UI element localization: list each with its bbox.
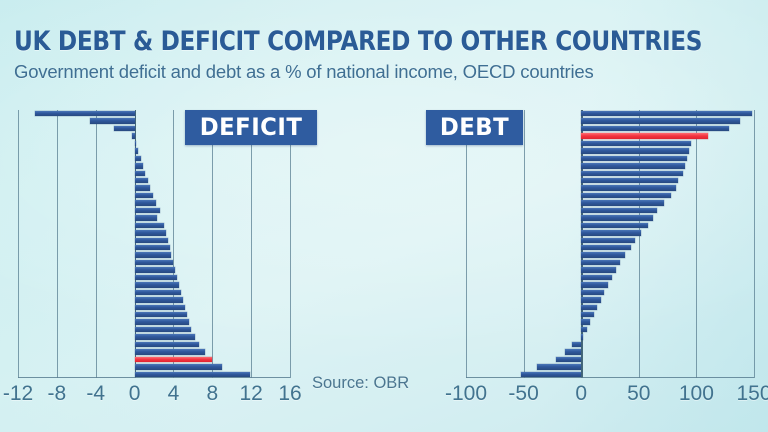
bar xyxy=(90,118,135,124)
debt-bars xyxy=(466,110,754,378)
bar xyxy=(135,334,195,340)
debt-panel-label: DEBT xyxy=(426,110,523,145)
deficit-panel-label: DEFICIT xyxy=(185,110,317,145)
bar xyxy=(581,215,652,221)
tick-label--12: -12 xyxy=(3,382,33,406)
tick-label-0: 0 xyxy=(129,382,141,406)
bar xyxy=(581,171,682,177)
bar xyxy=(572,342,581,348)
bar xyxy=(135,141,136,147)
bar xyxy=(581,238,635,244)
bar xyxy=(135,297,184,303)
bar xyxy=(135,238,168,244)
bar xyxy=(135,252,172,258)
tick-label-0: 0 xyxy=(575,382,587,406)
bar xyxy=(135,193,153,199)
deficit-chart: -12-8-40481216 xyxy=(18,110,290,378)
debt-plot-area xyxy=(466,110,754,378)
bar xyxy=(581,141,690,147)
bar xyxy=(581,178,678,184)
bar xyxy=(581,200,664,206)
bar xyxy=(135,163,144,169)
bar xyxy=(114,126,134,132)
bar xyxy=(581,319,590,325)
bar xyxy=(581,133,708,139)
tick-label--100: -100 xyxy=(445,382,487,406)
bar xyxy=(135,290,182,296)
bar xyxy=(581,297,601,303)
gridline-16 xyxy=(290,110,291,378)
bar xyxy=(135,215,157,221)
page-subtitle: Government deficit and debt as a % of na… xyxy=(14,61,756,83)
bar xyxy=(581,208,657,214)
bar xyxy=(135,148,139,154)
bar xyxy=(581,275,612,281)
deficit-bars xyxy=(18,110,290,378)
bar xyxy=(135,200,156,206)
bar xyxy=(581,334,583,340)
bar xyxy=(537,364,581,370)
bar xyxy=(581,252,625,258)
bar xyxy=(135,245,170,251)
deficit-panel-label-text: DEFICIT xyxy=(200,115,303,139)
bar xyxy=(556,357,581,363)
bar xyxy=(135,312,187,318)
bar xyxy=(581,193,671,199)
bar xyxy=(135,319,189,325)
bar xyxy=(581,148,689,154)
bar xyxy=(135,342,199,348)
bar xyxy=(135,223,164,229)
bar xyxy=(135,282,180,288)
bar xyxy=(581,290,604,296)
tick-label-12: 12 xyxy=(239,382,262,406)
bar xyxy=(581,185,675,191)
bar xyxy=(135,327,191,333)
tick-label-4: 4 xyxy=(168,382,180,406)
bar xyxy=(135,305,186,311)
tick-label--50: -50 xyxy=(508,382,538,406)
bar xyxy=(581,282,608,288)
debt-x-axis-ticks: -100-50050100150 xyxy=(466,378,754,416)
bar xyxy=(581,267,616,273)
tick-label--4: -4 xyxy=(86,382,105,406)
bar xyxy=(135,357,213,363)
gridline-150 xyxy=(754,110,755,378)
bar xyxy=(135,275,178,281)
tick-label-8: 8 xyxy=(206,382,218,406)
bar xyxy=(135,364,222,370)
bar xyxy=(135,171,146,177)
bar xyxy=(132,133,135,139)
page-title: UK DEBT & DEFICIT COMPARED TO OTHER COUN… xyxy=(14,26,652,57)
bar xyxy=(135,230,166,236)
bar xyxy=(135,260,174,266)
deficit-x-axis-ticks: -12-8-40481216 xyxy=(18,378,290,416)
tick-label-50: 50 xyxy=(627,382,650,406)
bar xyxy=(135,349,205,355)
deficit-plot-area xyxy=(18,110,290,378)
bar xyxy=(135,267,176,273)
bar xyxy=(581,156,687,162)
bar xyxy=(35,111,135,117)
debt-chart: -100-50050100150 xyxy=(466,110,754,378)
tick-label--8: -8 xyxy=(48,382,67,406)
tick-label-150: 150 xyxy=(736,382,768,406)
bar xyxy=(581,223,648,229)
bar xyxy=(581,118,740,124)
bar xyxy=(581,111,752,117)
header: UK DEBT & DEFICIT COMPARED TO OTHER COUN… xyxy=(14,26,756,83)
tick-label-16: 16 xyxy=(278,382,301,406)
debt-panel-label-text: DEBT xyxy=(440,115,509,139)
bar xyxy=(581,245,631,251)
bar xyxy=(581,260,620,266)
bar xyxy=(581,230,641,236)
bar xyxy=(581,305,597,311)
bar xyxy=(135,156,142,162)
bar xyxy=(581,327,587,333)
source-note: Source: OBR xyxy=(312,374,409,393)
tick-label-100: 100 xyxy=(679,382,714,406)
bar xyxy=(135,208,160,214)
bar xyxy=(581,312,594,318)
bar xyxy=(135,185,151,191)
bar xyxy=(565,349,581,355)
bar xyxy=(135,178,149,184)
bar xyxy=(581,163,685,169)
bar xyxy=(581,126,728,132)
